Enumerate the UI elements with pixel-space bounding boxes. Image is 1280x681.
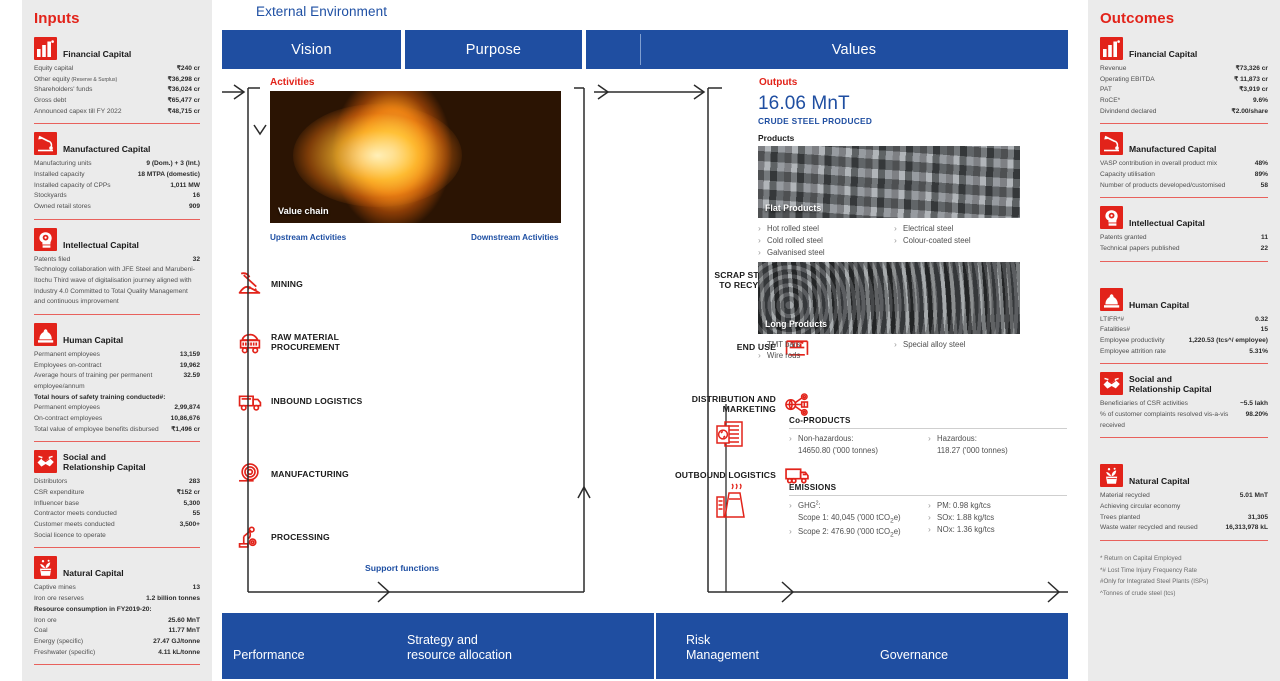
inbound-truck-icon: [237, 389, 263, 413]
activity-item-raw-material-procurement[interactable]: RAW MATERIALPROCUREMENT: [237, 330, 340, 354]
capital-row: Achieving circular economy: [1100, 502, 1268, 513]
capital-row-label: Patents granted: [1100, 233, 1257, 244]
capital-row-label: Energy (specific): [34, 637, 149, 648]
capital-row: % of customer complaints resolved vis-a-…: [1100, 410, 1268, 431]
capital-row-label: Iron ore reserves: [34, 594, 142, 605]
capital-row-label: Achieving circular economy: [1100, 502, 1268, 513]
product-bullet: Electrical steel: [894, 223, 1030, 235]
capital-row-value: 27.47 GJ/tonne: [153, 637, 200, 648]
capital-row: Energy (specific)27.47 GJ/tonne: [34, 637, 200, 648]
capital-row-value: ₹36,298 cr: [168, 75, 200, 86]
co-products-right-list: Hazardous:118.27 ('000 tonnes): [928, 433, 1067, 457]
output-bullet: 118.27 ('000 tonnes): [928, 445, 1067, 457]
product-bullets-right: Special alloy steel: [894, 339, 1030, 363]
capital-name: Human Capital: [63, 335, 123, 346]
tab-values[interactable]: Values: [586, 30, 1068, 69]
capital-row: Shareholders' funds₹36,024 cr: [34, 85, 200, 96]
capital-divider: [1100, 363, 1268, 364]
capital-row-label: Technical papers published: [1100, 244, 1257, 255]
capital-paragraph-text: Technology collaboration with JFE Steel …: [34, 265, 200, 308]
capital-row: Total value of employee benefits disburs…: [34, 425, 200, 436]
capital-header: Financial Capital: [1100, 36, 1268, 60]
capital-header: Human Capital: [34, 322, 200, 346]
capital-row-list: Beneficiaries of CSR activities~5.5 lakh…: [1100, 399, 1268, 431]
capital-row-list: Permanent employees13,159Employees on-co…: [34, 350, 200, 435]
bottom-item-risk[interactable]: RiskManagement: [686, 633, 759, 664]
bottom-bar-right[interactable]: RiskManagement Governance: [656, 613, 1068, 679]
capital-block-natural-capital: Natural CapitalMaterial recycled5.01 MnT…: [1100, 463, 1268, 541]
capital-block-intellectual-capital: Intellectual CapitalPatents granted11Tec…: [1100, 205, 1268, 261]
emissions-title: EMISSIONS: [789, 483, 1067, 496]
leaf-basket-icon: [34, 556, 57, 579]
activity-label: RAW MATERIALPROCUREMENT: [271, 332, 340, 353]
capital-row-label: Total hours of safety training conducted…: [34, 393, 200, 404]
capital-row-value: 909: [189, 202, 200, 213]
capital-row: Number of products developed/customised5…: [1100, 181, 1268, 192]
emissions-left-list: GHG2:Scope 1: 40,045 ('000 tCO2e)Scope 2…: [789, 500, 928, 541]
capital-row: VASP contribution in overall product mix…: [1100, 159, 1268, 170]
capital-row-value: 32: [193, 255, 200, 266]
capital-header: Natural Capital: [1100, 463, 1268, 487]
capital-divider: [1100, 437, 1268, 438]
capital-name: Intellectual Capital: [63, 240, 139, 251]
capital-row-value: 9 (Dom.) + 3 (Int.): [146, 159, 200, 170]
handshake-icon: [1100, 372, 1123, 395]
capital-row-value: 11: [1261, 233, 1268, 244]
bottom-item-strategy[interactable]: Strategy andresource allocation: [407, 633, 512, 664]
capital-name: Social andRelationship Capital: [63, 452, 146, 473]
activity-label: DISTRIBUTION ANDMARKETING: [692, 394, 776, 415]
capital-row-label: Installed capacity of CPPs: [34, 181, 166, 192]
capital-row-value: 89%: [1255, 170, 1268, 181]
product-image-caption: Flat Products: [765, 203, 821, 213]
capital-row: Stockyards16: [34, 191, 200, 202]
capital-row-value: ₹1,496 cr: [171, 425, 200, 436]
capital-row-value: 13,159: [180, 350, 200, 361]
capital-divider: [34, 219, 200, 220]
capital-row-list: Equity capital₹240 crOther equity (Reser…: [34, 64, 200, 117]
capital-row-label: Revenue: [1100, 64, 1232, 75]
activities-label: Activities: [270, 77, 314, 88]
capital-name: Social andRelationship Capital: [1129, 374, 1212, 395]
emissions-right-list: PM: 0.98 kg/tcsSOx: 1.88 kg/tcsNOx: 1.36…: [928, 500, 1067, 541]
capital-row-value: ₹65,477 cr: [168, 96, 200, 107]
capital-row-label: PAT: [1100, 85, 1235, 96]
product-bullets-left: Hot rolled steelCold rolled steelGalvani…: [758, 223, 894, 259]
capital-row-value: 19,962: [180, 361, 200, 372]
capital-row: Employee attrition rate5.31%: [1100, 347, 1268, 358]
downstream-activities-label: Downstream Activities: [471, 233, 559, 242]
capital-row-label: Announced capex till FY 2022: [34, 107, 164, 118]
capital-divider: [34, 547, 200, 548]
capital-row-label: CSR expenditure: [34, 488, 173, 499]
capital-row-label: Waste water recycled and reused: [1100, 523, 1221, 534]
product-bullet: Wire rods: [758, 350, 894, 362]
capital-row: Divindend declared₹2.00/share: [1100, 107, 1268, 118]
capital-row-value: ₹ 11,873 cr: [1234, 75, 1268, 86]
capital-row-label: Permanent employees: [34, 403, 170, 414]
support-functions-label: Support functions: [365, 563, 439, 573]
capital-row: Manufacturing units9 (Dom.) + 3 (Int.): [34, 159, 200, 170]
capital-row: Installed capacity18 MTPA (domestic): [34, 170, 200, 181]
crude-steel-caption: CRUDE STEEL PRODUCED: [758, 116, 1030, 126]
tab-purpose[interactable]: Purpose: [405, 30, 582, 69]
capital-row: Other equity (Reserve & Surplus)₹36,298 …: [34, 75, 200, 86]
panel-spacer: [1100, 269, 1268, 287]
capital-row: Employees on-contract19,962: [34, 361, 200, 372]
product-bullet: Special alloy steel: [894, 339, 1030, 351]
product-bullets-right: Electrical steelColour-coated steel: [894, 223, 1030, 259]
capital-row-label: Installed capacity: [34, 170, 134, 181]
smokestack-icon: [714, 483, 752, 521]
capital-name: Manufactured Capital: [1129, 144, 1216, 155]
capital-block-human-capital: Human CapitalLTIFR*#0.32Fatalities#15Emp…: [1100, 287, 1268, 365]
capital-row-value: 9.6%: [1253, 96, 1268, 107]
capital-row: Beneficiaries of CSR activities~5.5 lakh: [1100, 399, 1268, 410]
product-bullet: Colour-coated steel: [894, 235, 1030, 247]
capital-row-label: % of customer complaints resolved vis-a-…: [1100, 410, 1242, 431]
capital-row-list: VASP contribution in overall product mix…: [1100, 159, 1268, 191]
capital-row-label: Resource consumption in FY2019-20:: [34, 605, 200, 616]
tab-purpose-label: Purpose: [405, 42, 582, 58]
bottom-bar-left[interactable]: Performance Strategy andresource allocat…: [222, 613, 654, 679]
capital-row-value: ₹73,326 cr: [1236, 64, 1268, 75]
handshake-icon: [34, 450, 57, 473]
footnote: *# Lost Time Injury Frequency Rate: [1100, 565, 1268, 576]
product-bullet: Hot rolled steel: [758, 223, 894, 235]
product-bullet: Galvanised steel: [758, 247, 894, 259]
capital-row-value: 283: [189, 477, 200, 488]
co-products-left-list: Non-hazardous:14650.80 ('000 tonnes): [789, 433, 928, 457]
capital-row-value: 4.11 kL/tonne: [158, 648, 200, 659]
head-gear-icon: [1100, 206, 1123, 229]
capital-row: Iron ore25.60 MnT: [34, 616, 200, 627]
product-bullets-left: TMT barsWire rods: [758, 339, 894, 363]
footnote: * Return on Capital Employed: [1100, 553, 1268, 564]
capital-row-label: Coal: [34, 626, 164, 637]
activity-label: MINING: [271, 279, 303, 289]
capital-row: On-contract employees10,86,676: [34, 414, 200, 425]
capital-block-manufactured-capital: Manufactured CapitalManufacturing units9…: [34, 131, 200, 219]
capital-name: Financial Capital: [63, 49, 131, 60]
capital-row-value: 31,305: [1248, 513, 1268, 524]
bottom-item-governance[interactable]: Governance: [880, 648, 948, 663]
capital-row-label: Equity capital: [34, 64, 173, 75]
footnotes: * Return on Capital Employed*# Lost Time…: [1100, 553, 1268, 599]
capital-row: Total hours of safety training conducted…: [34, 393, 200, 404]
helmet-icon: [1100, 288, 1123, 311]
capital-divider: [34, 314, 200, 315]
capital-header: Intellectual Capital: [1100, 205, 1268, 229]
capital-name: Natural Capital: [63, 568, 124, 579]
capital-row-label: Trees planted: [1100, 513, 1244, 524]
product-image: Flat Products: [758, 146, 1020, 218]
activity-item-manufacturing[interactable]: MANUFACTURING: [237, 462, 349, 486]
capital-header: Social andRelationship Capital: [1100, 371, 1268, 395]
capital-block-social-and-relationship-capital: Social andRelationship CapitalBeneficiar…: [1100, 371, 1268, 438]
activity-item-mining[interactable]: MINING: [237, 272, 303, 296]
capital-header: Manufactured Capital: [1100, 131, 1268, 155]
capital-row: Installed capacity of CPPs1,011 MW: [34, 181, 200, 192]
footnote: ^Tonnes of crude steel (tcs): [1100, 588, 1268, 599]
capital-row-value: 1.2 billion tonnes: [146, 594, 200, 605]
co-products-block: Co-PRODUCTS Non-hazardous:14650.80 ('000…: [789, 416, 1067, 457]
capital-row-label: VASP contribution in overall product mix: [1100, 159, 1251, 170]
capital-row-value: 3,500+: [180, 520, 200, 531]
capital-row-value: 18 MTPA (domestic): [138, 170, 200, 181]
product-bullet: Cold rolled steel: [758, 235, 894, 247]
inputs-capital-list: Financial CapitalEquity capital₹240 crOt…: [34, 36, 200, 665]
leaf-basket-icon: [1100, 464, 1123, 487]
capital-row: Freshwater (specific)4.11 kL/tonne: [34, 648, 200, 659]
capital-row-list: Distributors283CSR expenditure₹152 crInf…: [34, 477, 200, 541]
capital-row: Iron ore reserves1.2 billion tonnes: [34, 594, 200, 605]
center-column: External Environment Vision Purpose Valu…: [222, 0, 1068, 681]
capital-row-label: Capacity utilisation: [1100, 170, 1251, 181]
capital-row-label: Employee productivity: [1100, 336, 1185, 347]
capital-name: Financial Capital: [1129, 49, 1197, 60]
capital-name: Natural Capital: [1129, 476, 1190, 487]
capital-row-value: 10,86,676: [171, 414, 200, 425]
capital-row-list: LTIFR*#0.32Fatalities#15Employee product…: [1100, 315, 1268, 358]
capital-row: Capacity utilisation89%: [1100, 170, 1268, 181]
product-bullet-columns: Hot rolled steelCold rolled steelGalvani…: [758, 223, 1030, 259]
head-gear-icon: [34, 228, 57, 251]
capital-divider: [34, 441, 200, 442]
capital-row-label: Total value of employee benefits disburs…: [34, 425, 167, 436]
capital-row-label: Fatalities#: [1100, 325, 1257, 336]
distribution-network-icon: [784, 392, 810, 416]
capital-row-value: 1,011 MW: [170, 181, 200, 192]
capital-row-label: On-contract employees: [34, 414, 167, 425]
products-label: Products: [758, 133, 1030, 143]
capital-row: Revenue₹73,326 cr: [1100, 64, 1268, 75]
steel-coil-icon: [237, 462, 263, 486]
activity-item-distribution-and-marketing[interactable]: DISTRIBUTION ANDMARKETING: [692, 392, 810, 416]
outputs-label: Outputs: [759, 77, 797, 88]
capital-row-value: 5.01 MnT: [1240, 491, 1268, 502]
product-group: Long ProductsTMT barsWire rodsSpecial al…: [758, 262, 1030, 363]
outcomes-capital-list: Financial CapitalRevenue₹73,326 crOperat…: [1100, 36, 1268, 541]
capital-block-intellectual-capital: Intellectual CapitalPatents filed32Techn…: [34, 227, 200, 315]
capital-block-human-capital: Human CapitalPermanent employees13,159Em…: [34, 322, 200, 442]
capital-row-label: Stockyards: [34, 191, 189, 202]
capital-row-list: Captive mines13Iron ore reserves1.2 bill…: [34, 583, 200, 658]
capital-row: CSR expenditure₹152 cr: [34, 488, 200, 499]
capital-row: Equity capital₹240 cr: [34, 64, 200, 75]
capital-row-label: Number of products developed/customised: [1100, 181, 1257, 192]
capital-row: Permanent employees2,99,874: [34, 403, 200, 414]
inputs-panel: Inputs Financial CapitalEquity capital₹2…: [22, 0, 212, 681]
capital-row-label: Social licence to operate: [34, 531, 200, 542]
capital-row: Patents filed32: [34, 255, 200, 266]
capital-name: Intellectual Capital: [1129, 218, 1205, 229]
capital-row-value: 48%: [1255, 159, 1268, 170]
capital-row-label: Customer meets conducted: [34, 520, 176, 531]
capital-row-label: Patents filed: [34, 255, 189, 266]
capital-row-list: Manufacturing units9 (Dom.) + 3 (Int.)In…: [34, 159, 200, 212]
activity-item-inbound-logistics[interactable]: INBOUND LOGISTICS: [237, 389, 362, 413]
capital-row: Coal11.77 MnT: [34, 626, 200, 637]
capital-row-value: 22: [1261, 244, 1268, 255]
output-bullet: Scope 2: 476.90 ('000 tCO2e): [789, 526, 928, 540]
tab-vision[interactable]: Vision: [222, 30, 401, 69]
output-bullet: PM: 0.98 kg/tcs: [928, 500, 1067, 512]
capital-header: Human Capital: [1100, 287, 1268, 311]
capital-row-label: Employees on-contract: [34, 361, 176, 372]
capital-divider: [1100, 540, 1268, 541]
capital-block-financial-capital: Financial CapitalRevenue₹73,326 crOperat…: [1100, 36, 1268, 124]
output-bullet: SOx: 1.88 kg/tcs: [928, 512, 1067, 524]
outputs-column: 16.06 MnT CRUDE STEEL PRODUCED Products …: [758, 93, 1030, 362]
capital-block-financial-capital: Financial CapitalEquity capital₹240 crOt…: [34, 36, 200, 124]
output-bullet: Hazardous:: [928, 433, 1067, 445]
capital-row: Operating EBITDA₹ 11,873 cr: [1100, 75, 1268, 86]
capital-row-value: 32.59: [183, 371, 200, 382]
capital-row-label: Divindend declared: [1100, 107, 1228, 118]
capital-row-label: Freshwater (specific): [34, 648, 154, 659]
activity-label: OUTBOUND LOGISTICS: [675, 470, 776, 480]
capital-row-label: Other equity (Reserve & Surplus): [34, 75, 164, 86]
capital-row: PAT₹3,919 cr: [1100, 85, 1268, 96]
capital-row-value: ₹240 cr: [177, 64, 200, 75]
capital-row-list: Patents filed32Technology collaboration …: [34, 255, 200, 308]
activity-label: INBOUND LOGISTICS: [271, 396, 362, 406]
capital-row: Announced capex till FY 2022₹48,715 cr: [34, 107, 200, 118]
product-group: Flat ProductsHot rolled steelCold rolled…: [758, 146, 1030, 259]
bar-chart-icon: [34, 37, 57, 60]
capital-row-value: ~5.5 lakh: [1240, 399, 1268, 410]
panel-spacer: [1100, 445, 1268, 463]
capital-divider: [1100, 123, 1268, 124]
capital-row-list: Patents granted11Technical papers publis…: [1100, 233, 1268, 254]
capital-row-value: 5.31%: [1249, 347, 1268, 358]
outcomes-panel: Outcomes Financial CapitalRevenue₹73,326…: [1088, 0, 1280, 681]
capital-row-value: 25.60 MnT: [168, 616, 200, 627]
capital-row: Social licence to operate: [34, 531, 200, 542]
infographic-page: Inputs Financial CapitalEquity capital₹2…: [0, 0, 1280, 681]
product-bullet: TMT bars: [758, 339, 894, 351]
capital-name: Manufactured Capital: [63, 144, 150, 155]
product-image: Long Products: [758, 262, 1020, 334]
inputs-panel-title: Inputs: [34, 10, 200, 27]
capital-block-social-and-relationship-capital: Social andRelationship CapitalDistributo…: [34, 449, 200, 548]
capital-divider: [1100, 261, 1268, 262]
capital-row-value: ₹3,919 cr: [1239, 85, 1268, 96]
capital-header: Manufactured Capital: [34, 131, 200, 155]
capital-row: Technical papers published22: [1100, 244, 1268, 255]
capital-row: Average hours of training per permanent …: [34, 371, 200, 392]
product-group-list: Flat ProductsHot rolled steelCold rolled…: [758, 146, 1030, 362]
capital-row: Trees planted31,305: [1100, 513, 1268, 524]
capital-paragraph: Technology collaboration with JFE Steel …: [34, 265, 200, 308]
capital-row: Gross debt₹65,477 cr: [34, 96, 200, 107]
capital-row-label: Permanent employees: [34, 350, 176, 361]
bar-chart-icon: [1100, 37, 1123, 60]
capital-row-label: Captive mines: [34, 583, 189, 594]
capital-row: Customer meets conducted3,500+: [34, 520, 200, 531]
output-bullet: NOx: 1.36 kg/tcs: [928, 524, 1067, 536]
activity-item-processing[interactable]: PROCESSING: [237, 525, 330, 549]
capital-row: Resource consumption in FY2019-20:: [34, 605, 200, 616]
capital-divider: [34, 664, 200, 665]
capital-row-list: Material recycled5.01 MnTAchieving circu…: [1100, 491, 1268, 534]
capital-row-label: RoCE*: [1100, 96, 1249, 107]
output-bullet: GHG2:: [789, 500, 928, 512]
co-products-icon: [714, 418, 748, 452]
capital-row-label: Gross debt: [34, 96, 164, 107]
capital-divider: [1100, 197, 1268, 198]
external-environment-label: External Environment: [256, 4, 387, 19]
output-bullet: 14650.80 ('000 tonnes): [789, 445, 928, 457]
capital-row-value: 11.77 MnT: [168, 626, 200, 637]
capital-row-value: ₹48,715 cr: [168, 107, 200, 118]
capital-row-label: Influencer base: [34, 499, 179, 510]
outcomes-panel-title: Outcomes: [1100, 10, 1268, 27]
capital-row-label: LTIFR*#: [1100, 315, 1251, 326]
bottom-item-performance[interactable]: Performance: [233, 648, 305, 663]
capital-row: Permanent employees13,159: [34, 350, 200, 361]
mining-pickaxe-icon: [237, 272, 263, 296]
capital-row-label: Beneficiaries of CSR activities: [1100, 399, 1236, 410]
capital-row-label: Operating EBITDA: [1100, 75, 1230, 86]
capital-row: LTIFR*#0.32: [1100, 315, 1268, 326]
capital-row-list: Revenue₹73,326 crOperating EBITDA₹ 11,87…: [1100, 64, 1268, 117]
tab-values-label: Values: [640, 42, 1068, 58]
capital-row: RoCE*9.6%: [1100, 96, 1268, 107]
capital-row: Owned retail stores909: [34, 202, 200, 213]
capital-header: Natural Capital: [34, 555, 200, 579]
capital-row-label: Distributors: [34, 477, 185, 488]
capital-row-label: Employee attrition rate: [1100, 347, 1245, 358]
footnote: #Only for Integrated Steel Plants (ISPs): [1100, 576, 1268, 587]
co-products-title: Co-PRODUCTS: [789, 416, 1067, 429]
capital-row-value: 15: [1261, 325, 1268, 336]
capital-row: Fatalities#15: [1100, 325, 1268, 336]
capital-row: Distributors283: [34, 477, 200, 488]
capital-row: Patents granted11: [1100, 233, 1268, 244]
value-chain-image: Value chain: [270, 91, 561, 223]
capital-row-sublabel: (Reserve & Surplus): [70, 77, 117, 83]
capital-row-value: 16,313,978 kL: [1225, 523, 1268, 534]
capital-header: Intellectual Capital: [34, 227, 200, 251]
capital-row-value: 13: [193, 583, 200, 594]
activity-label: PROCESSING: [271, 532, 330, 542]
capital-row: Waste water recycled and reused16,313,97…: [1100, 523, 1268, 534]
capital-row-label: Owned retail stores: [34, 202, 185, 213]
capital-row-label: Average hours of training per permanent …: [34, 371, 179, 392]
crude-steel-value: 16.06 MnT: [758, 93, 1030, 115]
upstream-activities-label: Upstream Activities: [270, 233, 346, 242]
capital-row-label: Material recycled: [1100, 491, 1236, 502]
robot-arm-icon: [237, 525, 263, 549]
capital-name: Human Capital: [1129, 300, 1189, 311]
capital-row-label: Manufacturing units: [34, 159, 142, 170]
crane-icon: [34, 132, 57, 155]
capital-row-value: 2,99,874: [174, 403, 200, 414]
capital-block-manufactured-capital: Manufactured CapitalVASP contribution in…: [1100, 131, 1268, 198]
capital-row: Captive mines13: [34, 583, 200, 594]
value-chain-caption: Value chain: [278, 206, 329, 216]
capital-row-value: ₹36,024 cr: [168, 85, 200, 96]
tab-vision-label: Vision: [222, 42, 401, 58]
capital-row-label: Iron ore: [34, 616, 164, 627]
output-bullet: Scope 1: 40,045 ('000 tCO2e): [789, 512, 928, 526]
capital-row-value: ₹2.00/share: [1232, 107, 1268, 118]
capital-divider: [34, 123, 200, 124]
crane-icon: [1100, 132, 1123, 155]
output-bullet: Non-hazardous:: [789, 433, 928, 445]
